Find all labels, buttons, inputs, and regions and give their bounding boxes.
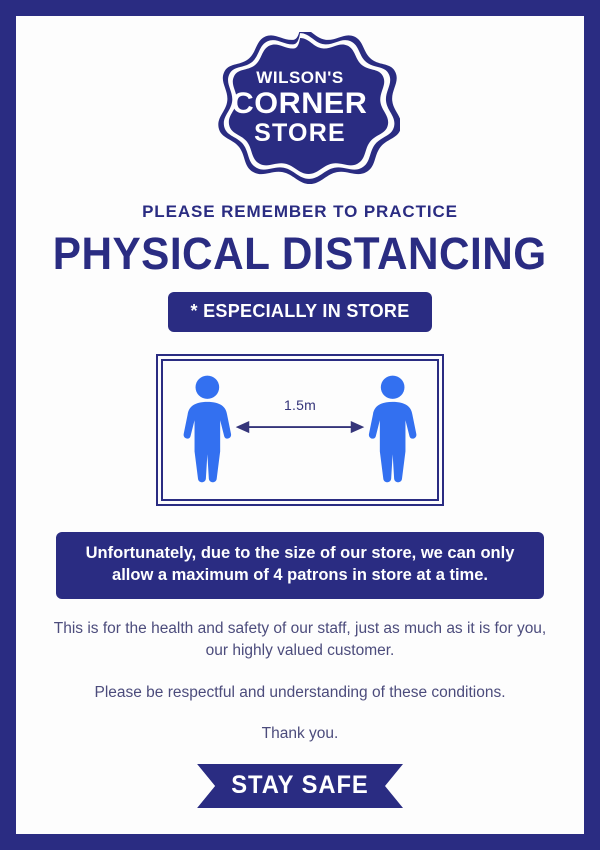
logo-text-block: WILSON'S CORNER STORE xyxy=(233,69,366,148)
store-logo-badge: WILSON'S CORNER STORE xyxy=(200,32,400,184)
distancing-diagram: 1.5m xyxy=(156,354,444,506)
page-title: PHYSICAL DISTANCING xyxy=(53,231,547,276)
body-paragraph-3: Thank you. xyxy=(50,723,550,745)
especially-in-store-badge: * ESPECIALLY IN STORE xyxy=(168,292,431,332)
stay-safe-ribbon: STAY SAFE xyxy=(197,764,403,808)
body-paragraph-2: Please be respectful and understanding o… xyxy=(50,682,550,704)
body-paragraph-1: This is for the health and safety of our… xyxy=(50,618,550,663)
stay-safe-text: STAY SAFE xyxy=(202,764,398,808)
poster: WILSON'S CORNER STORE PLEASE REMEMBER TO… xyxy=(0,0,600,850)
poster-content: WILSON'S CORNER STORE PLEASE REMEMBER TO… xyxy=(16,16,584,834)
capacity-banner: Unfortunately, due to the size of our st… xyxy=(56,532,544,599)
logo-line-wilsons: WILSON'S xyxy=(233,69,366,86)
logo-line-store: STORE xyxy=(233,121,366,146)
logo-line-corner: CORNER xyxy=(232,89,368,119)
distance-arrow-icon xyxy=(237,422,363,433)
kicker-text: PLEASE REMEMBER TO PRACTICE xyxy=(142,202,458,222)
body-copy: This is for the health and safety of our… xyxy=(50,618,550,746)
distancing-illustration xyxy=(163,361,437,499)
distancing-diagram-frame: 1.5m xyxy=(161,359,439,501)
person-right-icon xyxy=(369,376,417,483)
person-left-icon xyxy=(184,376,232,483)
distance-label: 1.5m xyxy=(163,397,437,413)
